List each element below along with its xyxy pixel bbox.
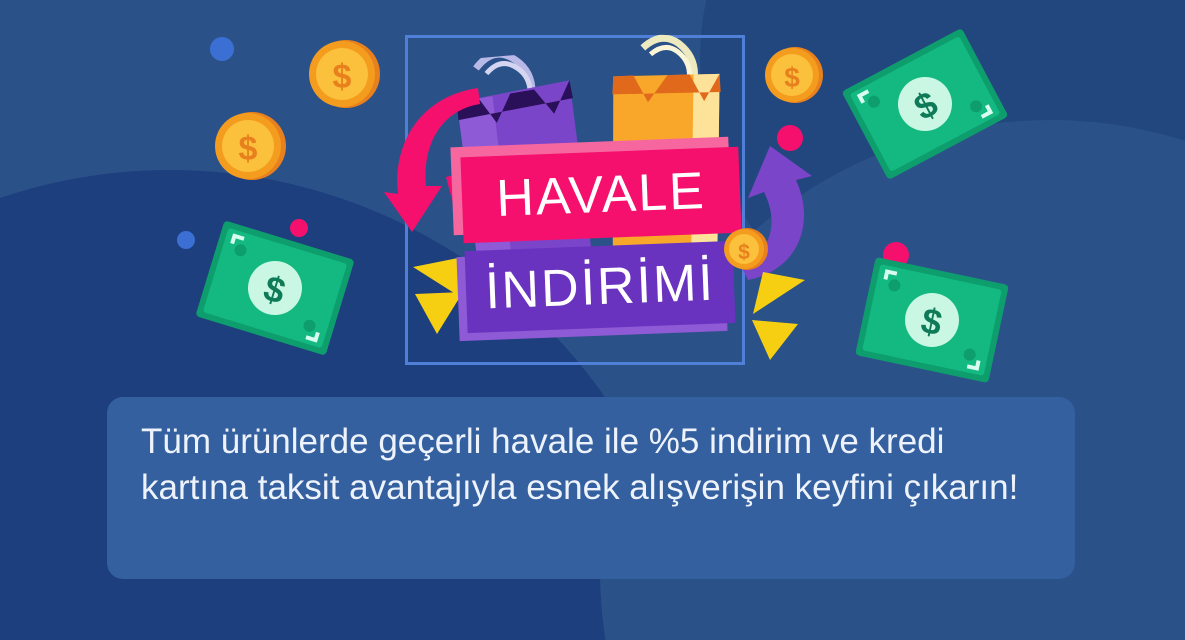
coin-top-right: $ xyxy=(762,44,824,106)
coin-left: $ xyxy=(212,108,288,184)
triangle-right-lower-graphic xyxy=(750,318,800,362)
coin-top-center-graphic: $ xyxy=(306,36,382,112)
promo-banner: HAVALE İNDİRİMİ $ $ xyxy=(0,0,1185,640)
coin-top-center: $ xyxy=(306,36,382,112)
headline-band-purple: İNDİRİMİ xyxy=(465,241,736,333)
coin-top-right-graphic: $ xyxy=(762,44,824,106)
coin-left-graphic: $ xyxy=(212,108,288,184)
coin-center-right: $ xyxy=(722,226,768,272)
coin-currency-symbol: $ xyxy=(738,241,750,264)
coin-currency-symbol: $ xyxy=(239,130,258,168)
coin-currency-symbol: $ xyxy=(333,58,352,96)
promo-text-panel: Tüm ürünlerde geçerli havale ile %5 indi… xyxy=(107,397,1075,579)
triangle-right-upper-graphic xyxy=(751,270,807,318)
dot-blue-top-left xyxy=(210,37,234,61)
coin-currency-symbol: $ xyxy=(784,62,800,93)
headline-line-2: İNDİRİMİ xyxy=(484,253,716,322)
promo-text: Tüm ürünlerde geçerli havale ile %5 indi… xyxy=(141,419,1041,511)
headline-line-1: HAVALE xyxy=(495,161,707,229)
dot-blue-left xyxy=(177,231,195,249)
coin-center-right-graphic: $ xyxy=(722,226,768,272)
dot-pink-left xyxy=(290,219,308,237)
headline-band-pink: HAVALE xyxy=(460,147,741,244)
